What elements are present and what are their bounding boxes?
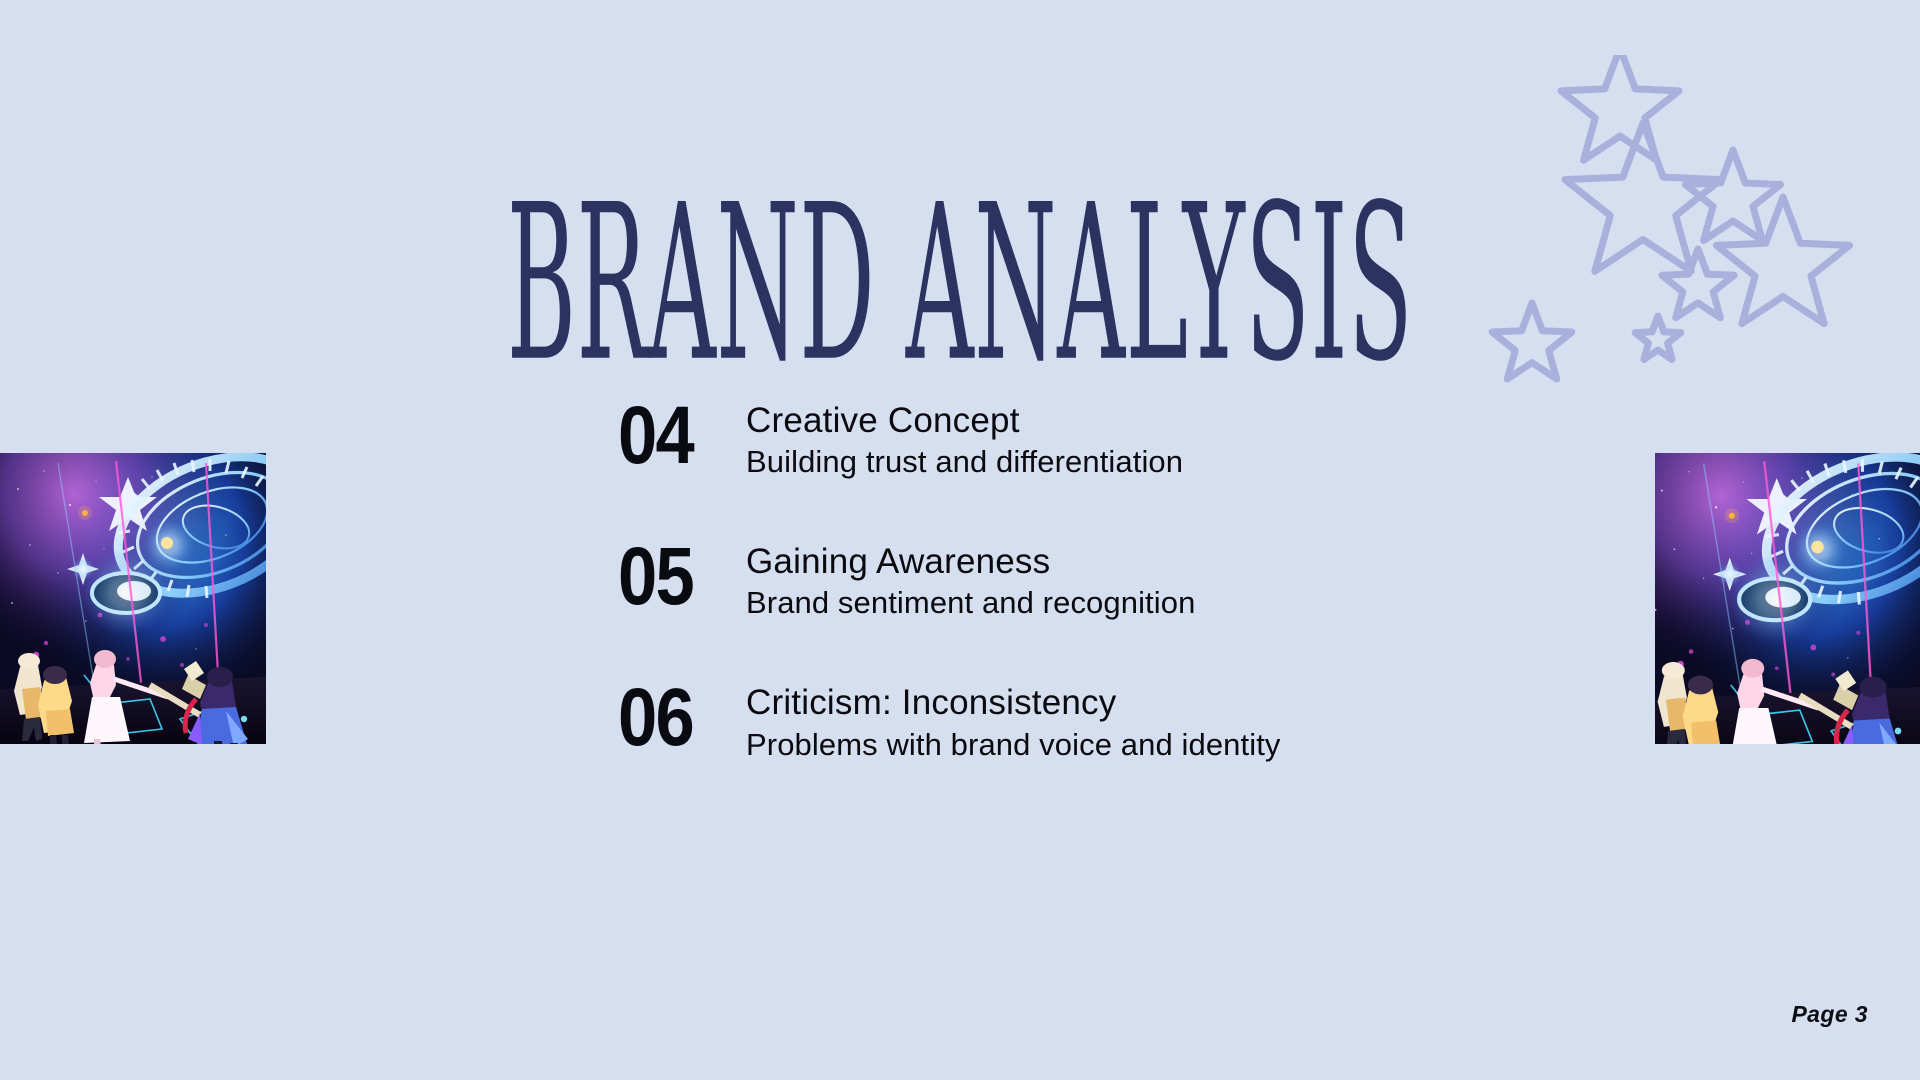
decorative-star-icon bbox=[1685, 150, 1780, 240]
decorative-star-icon bbox=[1716, 197, 1849, 324]
decorative-star-icon bbox=[1561, 55, 1679, 160]
item-text: Criticism: Inconsistency Problems with b… bbox=[746, 680, 1438, 763]
item-subtitle: Brand sentiment and recognition bbox=[746, 584, 1438, 622]
item-text: Creative Concept Building trust and diff… bbox=[746, 398, 1438, 481]
list-item[interactable]: 05 Gaining Awareness Brand sentiment and… bbox=[618, 539, 1438, 622]
item-subtitle: Building trust and differentiation bbox=[746, 443, 1438, 481]
slide-title: BRAND ANALYSIS bbox=[422, 176, 1497, 391]
list-item[interactable]: 06 Criticism: Inconsistency Problems wit… bbox=[618, 680, 1438, 763]
cosmic-stage-photo-left bbox=[0, 453, 266, 744]
decorative-star-icon bbox=[1565, 123, 1721, 271]
decorative-star-icon bbox=[1635, 316, 1681, 359]
page-number: Page 3 bbox=[1791, 1001, 1868, 1028]
decorative-star-icon bbox=[1662, 249, 1734, 318]
item-text: Gaining Awareness Brand sentiment and re… bbox=[746, 539, 1438, 622]
item-number: 05 bbox=[618, 539, 728, 614]
list-item[interactable]: 04 Creative Concept Building trust and d… bbox=[618, 398, 1438, 481]
star-cluster bbox=[1480, 55, 1920, 455]
agenda-list: 04 Creative Concept Building trust and d… bbox=[618, 398, 1438, 763]
item-number: 06 bbox=[618, 680, 728, 755]
cosmic-stage-photo-right bbox=[1655, 453, 1920, 744]
item-heading: Gaining Awareness bbox=[746, 541, 1438, 582]
slide-canvas: BRAND ANALYSIS 04 Creative Concept Build… bbox=[0, 0, 1920, 1080]
item-subtitle: Problems with brand voice and identity bbox=[746, 726, 1438, 764]
decorative-star-icon bbox=[1492, 303, 1572, 379]
item-number: 04 bbox=[618, 398, 728, 473]
item-heading: Creative Concept bbox=[746, 400, 1438, 441]
item-heading: Criticism: Inconsistency bbox=[746, 682, 1438, 723]
